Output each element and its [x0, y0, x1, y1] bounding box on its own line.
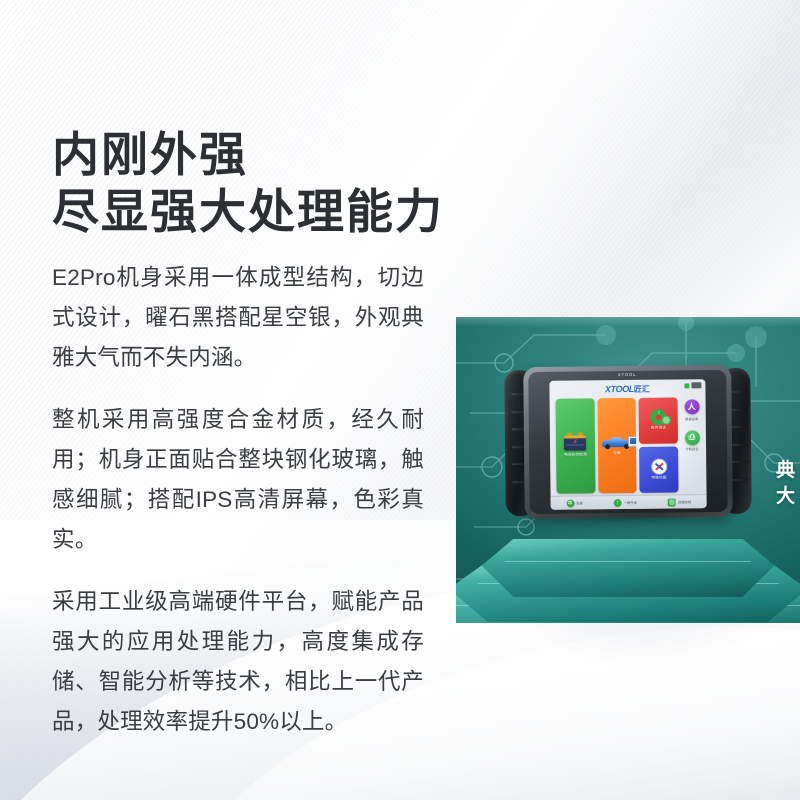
description-column: E2Pro机身采用一体成型结构，切边式设计，曜石黑搭配星空银，外观典雅大气而不失… [52, 258, 424, 742]
side-app-data-collection[interactable]: 人 数据采集 [684, 400, 699, 422]
tile-label: 特殊功能 [651, 476, 666, 481]
remote-control-icon: ▤ [668, 498, 676, 506]
screen-status-bar [684, 383, 701, 389]
upgrade-glyph: ↑ [616, 500, 619, 506]
bottom-bar-upgrade[interactable]: ↑ 一键升级 [614, 499, 637, 507]
side-app-diagnostic-report[interactable]: ⎙ 诊断报告 [684, 430, 699, 452]
upgrade-icon: ↑ [614, 499, 622, 507]
remote-glyph: ▤ [669, 499, 675, 505]
screen-bottom-bar: ✲ 设置 ↑ 一键升级 ▤ 远程控制 [551, 495, 707, 511]
tile-diagnosis[interactable]: 诊断 [597, 398, 637, 493]
photo-edge-caption-line-2: 大 [776, 484, 796, 510]
data-collection-icon: 人 [684, 400, 699, 415]
page-title: 内刚外强 尽显强大处理能力 [52, 126, 444, 241]
side-app-label: 诊断报告 [685, 447, 698, 452]
device-body: XTOOL XTOOL匠汇 ⚡ [523, 365, 733, 519]
screen-side-apps: 人 数据采集 ⎙ 诊断报告 [680, 400, 705, 452]
battery-icon [691, 383, 701, 389]
screen-logo-cn: 匠汇 [634, 385, 650, 394]
description-paragraph-2: 整机采用高强度合金材质，经久耐用；机身正面贴合整块钢化玻璃，触感细腻；搭配IPS… [52, 400, 424, 560]
product-detail-page: 内刚外强 尽显强大处理能力 E2Pro机身采用一体成型结构，切边式设计，曜石黑搭… [0, 0, 800, 800]
wifi-icon [684, 383, 689, 388]
bottom-bar-settings[interactable]: ✲ 设置 [566, 499, 583, 507]
tablet-screen: XTOOL匠汇 ⚡ 电池系统检测 [549, 380, 706, 511]
settings-glyph: ✲ [568, 501, 573, 507]
settings-gear-icon: ✲ [566, 500, 574, 508]
bottom-bar-label: 远程控制 [678, 500, 691, 505]
tile-component-test[interactable]: 部件测试 [639, 398, 678, 444]
photo-top-fade [456, 317, 800, 327]
photo-edge-caption: 典 大 [776, 458, 796, 510]
tile-special-function[interactable]: 特殊功能 [639, 447, 678, 493]
pedestal-tier-top [482, 539, 775, 598]
tile-label: 诊断 [613, 451, 621, 456]
bottom-bar-label: 一键升级 [624, 500, 637, 505]
scan-device-icon [628, 436, 637, 447]
side-app-label: 数据采集 [685, 416, 698, 421]
description-paragraph-1: E2Pro机身采用一体成型结构，切边式设计，曜石黑搭配星空银，外观典雅大气而不失… [52, 258, 424, 378]
screen-app-tiles: ⚡ 电池系统检测 [556, 398, 679, 494]
photo-edge-caption-line-1: 典 [776, 458, 796, 484]
tile-battery-system-test[interactable]: ⚡ 电池系统检测 [556, 399, 596, 494]
description-paragraph-3: 采用工业级高端硬件平台，赋能产品强大的应用处理能力，高度集成存储、智能分析等技术… [52, 582, 424, 742]
screen-logo: XTOOL匠汇 [549, 384, 705, 397]
page-title-line-2: 尽显强大处理能力 [52, 183, 444, 240]
screen-logo-latin: XTOOL [605, 384, 634, 394]
side-app-glyph: ⎙ [689, 434, 695, 442]
tile-label: 电池系统检测 [564, 452, 587, 457]
product-photo: XTOOL XTOOL匠汇 ⚡ [456, 317, 800, 623]
bottom-bar-remote[interactable]: ▤ 远程控制 [668, 498, 691, 506]
car-icon [602, 436, 632, 449]
gear-icon [652, 411, 665, 424]
side-app-glyph: 人 [688, 403, 696, 411]
wrench-icon [652, 460, 666, 474]
tile-label: 部件测试 [651, 426, 666, 431]
bottom-bar-label: 设置 [576, 501, 583, 506]
page-title-line-1: 内刚外强 [52, 126, 444, 183]
battery-pack-icon: ⚡ [564, 435, 586, 450]
diagnostic-tablet-device: XTOOL XTOOL匠汇 ⚡ [512, 365, 744, 519]
diagnostic-report-icon: ⎙ [684, 430, 699, 445]
